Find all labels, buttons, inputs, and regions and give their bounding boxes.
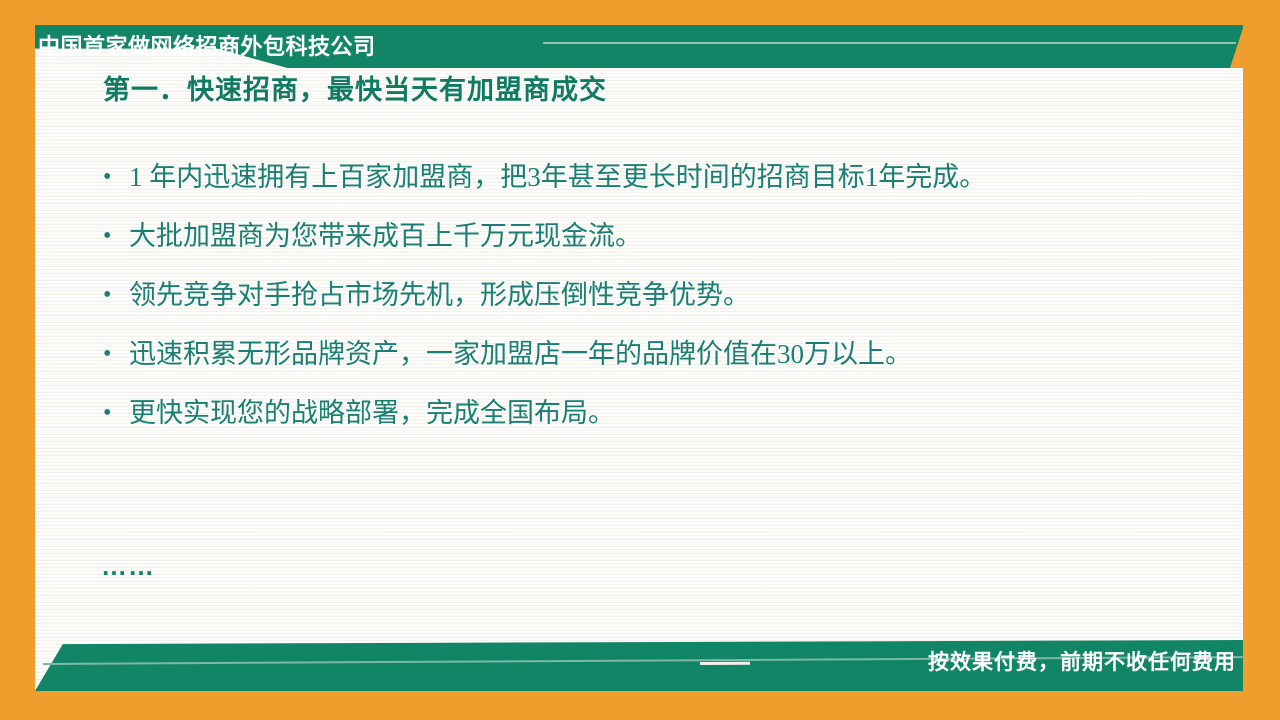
- list-item-text: 更快实现您的战略部署，完成全国布局。: [129, 396, 1183, 430]
- header-title: 中国首家做网络招商外包科技公司: [38, 30, 558, 64]
- list-item: • 1 年内迅速拥有上百家加盟商，把3年甚至更长时间的招商目标1年完成。: [103, 160, 1183, 194]
- list-item: • 大批加盟商为您带来成百上千万元现金流。: [103, 219, 1183, 253]
- list-item-text: 1 年内迅速拥有上百家加盟商，把3年甚至更长时间的招商目标1年完成。: [129, 160, 1183, 194]
- footer-band-dash: [700, 662, 750, 665]
- header-band-hairline: [543, 42, 1236, 44]
- bullet-marker-icon: •: [103, 160, 129, 194]
- list-item: • 领先竞争对手抢占市场先机，形成压倒性竞争优势。: [103, 278, 1183, 312]
- list-item-text: 迅速积累无形品牌资产，一家加盟店一年的品牌价值在30万以上。: [129, 337, 1183, 371]
- ellipsis-continuation: ……: [101, 553, 155, 579]
- list-item: • 更快实现您的战略部署，完成全国布局。: [103, 396, 1183, 430]
- page-title: 第一．快速招商，最快当天有加盟商成交: [103, 68, 607, 107]
- bullet-marker-icon: •: [103, 396, 129, 430]
- list-item-text: 领先竞争对手抢占市场先机，形成压倒性竞争优势。: [129, 278, 1183, 312]
- list-item-text: 大批加盟商为您带来成百上千万元现金流。: [129, 219, 1183, 253]
- bullet-marker-icon: •: [103, 219, 129, 253]
- list-item: • 迅速积累无形品牌资产，一家加盟店一年的品牌价值在30万以上。: [103, 337, 1183, 371]
- bullet-marker-icon: •: [103, 337, 129, 371]
- bullet-marker-icon: •: [103, 278, 129, 312]
- footer-tagline: 按效果付费，前期不收任何费用: [928, 647, 1236, 679]
- bullet-list: • 1 年内迅速拥有上百家加盟商，把3年甚至更长时间的招商目标1年完成。 • 大…: [103, 160, 1183, 455]
- slide-canvas: 中国首家做网络招商外包科技公司 第一．快速招商，最快当天有加盟商成交 • 1 年…: [0, 0, 1280, 720]
